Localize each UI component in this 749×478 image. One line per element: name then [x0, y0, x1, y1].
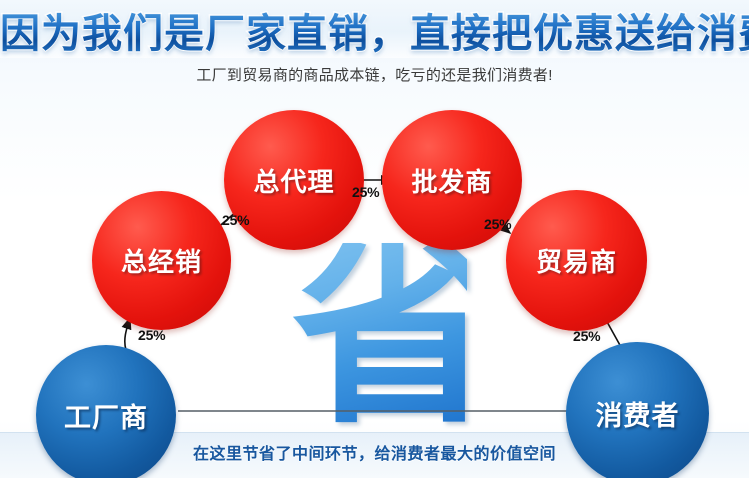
node-wholesaler-label: 批发商	[411, 162, 492, 199]
arrow-factory-to-distributor	[125, 318, 130, 350]
node-distributor-label: 总经销	[121, 242, 202, 279]
infographic-canvas: 因为我们是厂家直销，直接把优惠送给消费者 因为我们是厂家直销，直接把优惠送给消费…	[0, 0, 749, 478]
node-agent-label: 总代理	[253, 162, 334, 199]
node-agent[interactable]: 总代理	[224, 110, 364, 250]
footer-text: 在这里节省了中间环节，给消费者最大的价值空间	[0, 440, 749, 464]
markup-label-trader-consumer: 25%	[573, 328, 600, 344]
save-character-graphic: 省	[292, 243, 467, 433]
node-consumer-label: 消费者	[596, 394, 680, 433]
node-trader[interactable]: 贸易商	[506, 190, 647, 331]
page-title: 因为我们是厂家直销，直接把优惠送给消费者	[0, 8, 749, 60]
page-subtitle: 工厂到贸易商的商品成本链，吃亏的还是我们消费者!	[0, 64, 749, 85]
node-distributor[interactable]: 总经销	[92, 191, 231, 330]
node-factory-label: 工厂商	[64, 396, 148, 435]
markup-label-distributor-agent: 25%	[222, 212, 249, 228]
markup-label-factory-distributor: 25%	[138, 327, 165, 343]
markup-label-agent-wholesaler: 25%	[352, 184, 379, 200]
markup-label-wholesaler-trader: 25%	[484, 216, 511, 232]
node-trader-label: 贸易商	[536, 242, 617, 279]
